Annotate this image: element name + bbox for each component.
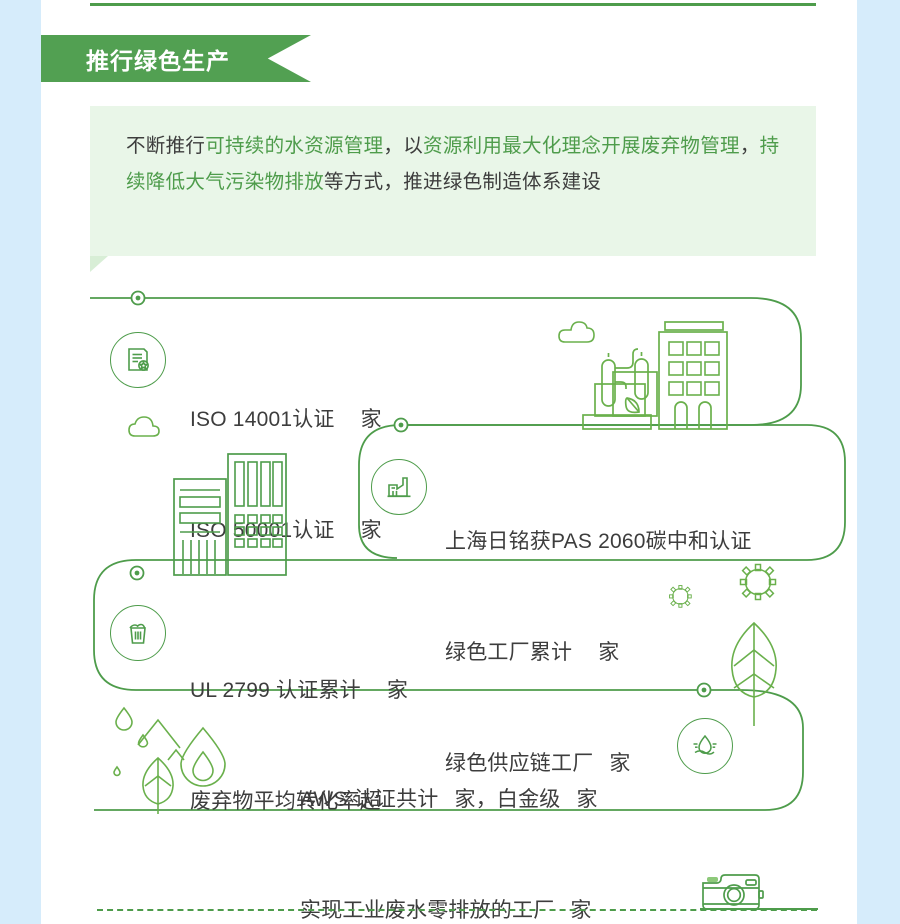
infographic-page: 推行绿色生产 不断推行可持续的水资源管理，以资源利用最大化理念开展废弃物管理，持…	[0, 0, 900, 924]
callout-segment-6: 等方式，推进绿色制造体系建设	[324, 171, 601, 193]
row-line: 实现工业废水零排放的工厂家	[300, 892, 598, 924]
top-divider-rule	[90, 3, 816, 6]
callout-segment-4: ，	[740, 135, 760, 157]
row-line: 上海日铭获PAS 2060碳中和认证	[445, 523, 752, 560]
factory-icon	[371, 459, 427, 515]
intro-callout-text: 不断推行可持续的水资源管理，以资源利用最大化理念开展废弃物管理，持续降低大气污染…	[90, 106, 816, 200]
callout-segment-1: 可持续的水资源管理	[205, 135, 383, 157]
callout-segment-0: 不断推行	[126, 135, 205, 157]
certificate-icon	[110, 332, 166, 388]
intro-callout: 不断推行可持续的水资源管理，以资源利用最大化理念开展废弃物管理，持续降低大气污染…	[90, 106, 816, 256]
callout-segment-2: ，以	[383, 135, 423, 157]
callout-tail	[90, 256, 108, 272]
row-line: UL 2799 认证累计家	[190, 672, 408, 709]
timeline-row-iso-text: ISO 14001认证家 ISO 50001认证家	[190, 327, 382, 623]
row-line: ISO 14001认证家	[190, 401, 382, 438]
row-line: 绿色工厂累计家	[445, 634, 752, 671]
water-drop-icon	[677, 718, 733, 774]
timeline-row-water-text: AWS 认证共计家，白金级家 实现工业废水零排放的工厂家	[300, 707, 598, 924]
section-title: 推行绿色生产	[41, 42, 230, 76]
bottom-solid-divider	[700, 908, 818, 910]
row-line: ISO 50001认证家	[190, 512, 382, 549]
callout-segment-3: 资源利用最大化理念开展废弃物管理	[423, 135, 740, 157]
trash-icon	[110, 605, 166, 661]
row-line: AWS 认证共计家，白金级家	[300, 781, 598, 818]
